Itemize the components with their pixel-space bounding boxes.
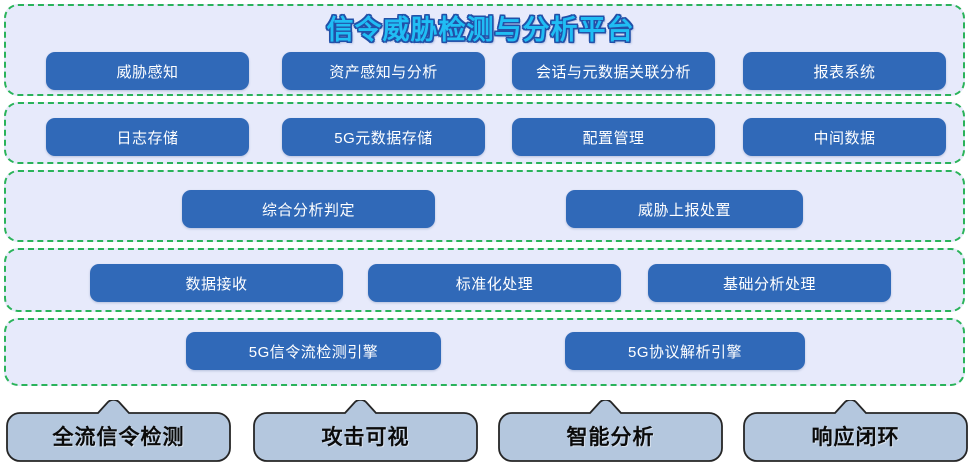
box-standardization-processing[interactable]: 标准化处理 bbox=[368, 264, 621, 302]
box-5g-signaling-flow-detection-engine[interactable]: 5G信令流检测引擎 bbox=[186, 332, 441, 370]
box-intermediate-data[interactable]: 中间数据 bbox=[743, 118, 946, 156]
architecture-diagram: 信令威胁检测与分析平台 威胁感知 资产感知与分析 会话与元数据关联分析 报表系统… bbox=[0, 0, 969, 465]
page-title: 信令威胁检测与分析平台 bbox=[0, 8, 961, 47]
outcome-banner-attack-visualization[interactable]: 攻击可视 bbox=[253, 400, 478, 462]
box-log-storage[interactable]: 日志存储 bbox=[46, 118, 249, 156]
box-threat-awareness[interactable]: 威胁感知 bbox=[46, 52, 249, 90]
layer-panel-engine bbox=[4, 318, 965, 386]
box-session-metadata-correlation[interactable]: 会话与元数据关联分析 bbox=[512, 52, 715, 90]
box-asset-awareness-analysis[interactable]: 资产感知与分析 bbox=[282, 52, 485, 90]
box-configuration-management[interactable]: 配置管理 bbox=[512, 118, 715, 156]
box-5g-protocol-parsing-engine[interactable]: 5G协议解析引擎 bbox=[565, 332, 805, 370]
outcome-banner-full-signaling-detection[interactable]: 全流信令检测 bbox=[6, 400, 231, 462]
outcome-banner-response-closed-loop[interactable]: 响应闭环 bbox=[743, 400, 968, 462]
box-comprehensive-analysis-decision[interactable]: 综合分析判定 bbox=[182, 190, 435, 228]
box-threat-reporting-handling[interactable]: 威胁上报处置 bbox=[566, 190, 803, 228]
layer-panel-decision bbox=[4, 170, 965, 242]
box-5g-metadata-storage[interactable]: 5G元数据存储 bbox=[282, 118, 485, 156]
outcome-label: 响应闭环 bbox=[743, 400, 968, 462]
outcome-label: 智能分析 bbox=[498, 400, 723, 462]
outcome-label: 全流信令检测 bbox=[6, 400, 231, 462]
outcome-label: 攻击可视 bbox=[253, 400, 478, 462]
box-data-reception[interactable]: 数据接收 bbox=[90, 264, 343, 302]
box-report-system[interactable]: 报表系统 bbox=[743, 52, 946, 90]
outcome-banner-intelligent-analysis[interactable]: 智能分析 bbox=[498, 400, 723, 462]
box-basic-analysis-processing[interactable]: 基础分析处理 bbox=[648, 264, 891, 302]
